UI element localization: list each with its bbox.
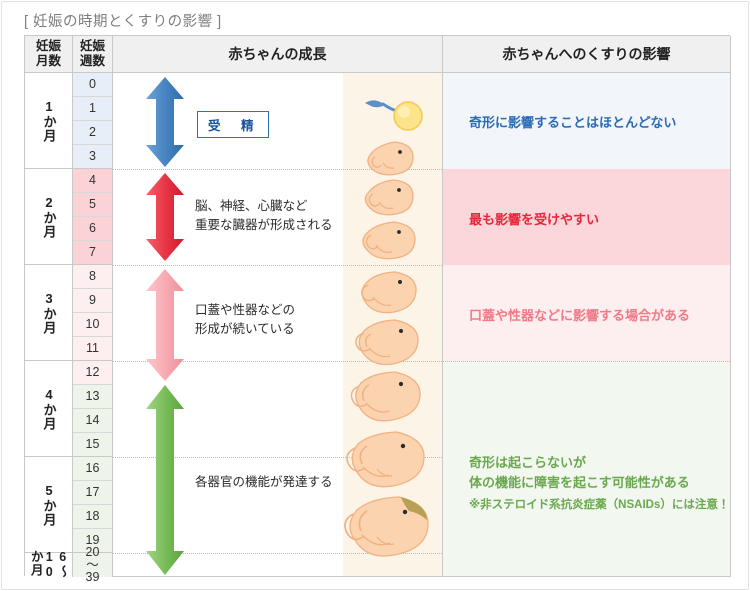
week-cell-3: 3: [73, 145, 112, 169]
effect-note: ※非ステロイド系抗炎症薬（NSAIDs）には注意！: [469, 497, 729, 513]
week-label: 20 ～ 39: [86, 546, 100, 584]
week-cell-11: 11: [73, 337, 112, 361]
month-cell-6: 6～10か月: [25, 553, 72, 577]
header-month: 妊娠 月数: [25, 36, 73, 73]
fertilization-label: 受 精: [208, 119, 258, 133]
fetus-week24-icon: [341, 493, 435, 561]
header-effect: 赤ちゃんへのくすりの影響: [443, 36, 731, 73]
fetus-week14-icon: [347, 369, 427, 425]
week-cell-10: 10: [73, 313, 112, 337]
week-label: 14: [86, 414, 100, 427]
month-label: 4か月: [41, 387, 55, 431]
growth-stage-2-text: 脳、神経、心臓など 重要な臓器が形成される: [195, 197, 333, 235]
week-cell-9: 9: [73, 289, 112, 313]
sperm-and-egg-icon: [363, 93, 433, 139]
week-label: 4: [89, 174, 96, 187]
page-title: [ 妊娠の時期とくすりの影響 ]: [24, 10, 222, 31]
red-arrow: [143, 173, 187, 261]
pregnancy-timeline-table: 妊娠 月数 妊娠 週数 赤ちゃんの成長 赤ちゃんへのくすりの影響 1か月 2か月…: [24, 35, 730, 576]
month-cell-3: 3か月: [25, 265, 72, 361]
week-label: 10: [86, 318, 100, 331]
week-cell-16: 16: [73, 457, 112, 481]
month-cell-1: 1か月: [25, 73, 72, 169]
week-label: 5: [89, 198, 96, 211]
month-label: 2か月: [41, 195, 55, 239]
blue-arrow: [143, 77, 187, 167]
month-label: 5か月: [41, 483, 55, 527]
effect-column: 奇形に影響することはほとんどない 最も影響を受けやすい 口蓋や性器などに影響する…: [443, 73, 731, 577]
month-column: 1か月 2か月 3か月 4か月 5か月 6～10か月: [25, 73, 73, 577]
week-cell-13: 13: [73, 385, 112, 409]
light-pink-arrow: [143, 269, 187, 381]
week-cell-6: 6: [73, 217, 112, 241]
month-label: 1か月: [41, 99, 55, 143]
week-column: 0 1 2 3 4 5 6 7 8 9 10 11 12 13 14 15 16…: [73, 73, 113, 577]
effect-separator: [443, 361, 730, 362]
week-cell-2: 2: [73, 121, 112, 145]
effect-text-1: 奇形に影響することはほとんどない: [469, 113, 676, 133]
month-cell-5: 5か月: [25, 457, 72, 553]
growth-stage-3-text: 口蓋や性器などの 形成が続いている: [195, 301, 295, 339]
fetus-week10-icon: [355, 269, 423, 317]
week-label: 11: [86, 342, 99, 355]
embryo-week8-icon: [357, 219, 421, 263]
month-label: 3か月: [41, 291, 55, 335]
effect-text-3: 口蓋や性器などに影響する場合がある: [469, 306, 690, 326]
week-label: 1: [89, 102, 96, 115]
week-cell-20-39: 20 ～ 39: [73, 553, 112, 577]
fetus-week18-icon: [343, 429, 431, 491]
month-cell-4: 4か月: [25, 361, 72, 457]
header-month-label: 妊娠 月数: [36, 39, 61, 69]
chart-frame: [ 妊娠の時期とくすりの影響 ] 妊娠 月数 妊娠 週数 赤ちゃんの成長 赤ちゃ…: [1, 1, 749, 590]
week-cell-5: 5: [73, 193, 112, 217]
week-label: 15: [86, 438, 100, 451]
header-week-label: 妊娠 週数: [80, 39, 105, 69]
week-label: 16: [86, 462, 100, 475]
week-label: 12: [86, 366, 100, 379]
week-cell-15: 15: [73, 433, 112, 457]
week-cell-17: 17: [73, 481, 112, 505]
week-label: 3: [89, 150, 96, 163]
week-cell-12: 12: [73, 361, 112, 385]
week-label: 7: [89, 246, 96, 259]
green-arrow: [143, 385, 187, 575]
week-label: 18: [86, 510, 100, 523]
week-label: 9: [89, 294, 96, 307]
week-cell-14: 14: [73, 409, 112, 433]
effect-text-2: 最も影響を受けやすい: [469, 210, 599, 230]
fetus-week12-icon: [351, 317, 425, 369]
week-cell-8: 8: [73, 265, 112, 289]
fertilization-box: 受 精: [197, 111, 269, 138]
month-cell-2: 2か月: [25, 169, 72, 265]
week-cell-18: 18: [73, 505, 112, 529]
week-cell-0: 0: [73, 73, 112, 97]
header-effect-label: 赤ちゃんへのくすりの影響: [503, 46, 671, 63]
week-cell-1: 1: [73, 97, 112, 121]
week-label: 6: [89, 222, 96, 235]
row-separator: [113, 265, 442, 266]
growth-column: 受 精 脳、神経、心臓など 重要な臓器が形成される 口蓋や性器などの 形成が続い…: [113, 73, 443, 577]
month-label: 6～10か月: [28, 550, 69, 580]
embryo-week6-icon: [359, 177, 419, 219]
week-label: 17: [86, 486, 100, 499]
header-week: 妊娠 週数: [73, 36, 113, 73]
week-label: 8: [89, 270, 96, 283]
week-cell-4: 4: [73, 169, 112, 193]
week-label: 0: [89, 78, 96, 91]
week-cell-7: 7: [73, 241, 112, 265]
header-growth: 赤ちゃんの成長: [113, 36, 443, 73]
header-growth-label: 赤ちゃんの成長: [229, 46, 327, 63]
week-label: 13: [86, 390, 100, 403]
embryo-week4-icon: [361, 139, 419, 179]
week-label: 2: [89, 126, 96, 139]
effect-text-4: 奇形は起こらないが 体の機能に障害を起こす可能性がある: [469, 453, 690, 492]
growth-stage-4-text: 各器官の機能が発達する: [195, 473, 333, 492]
